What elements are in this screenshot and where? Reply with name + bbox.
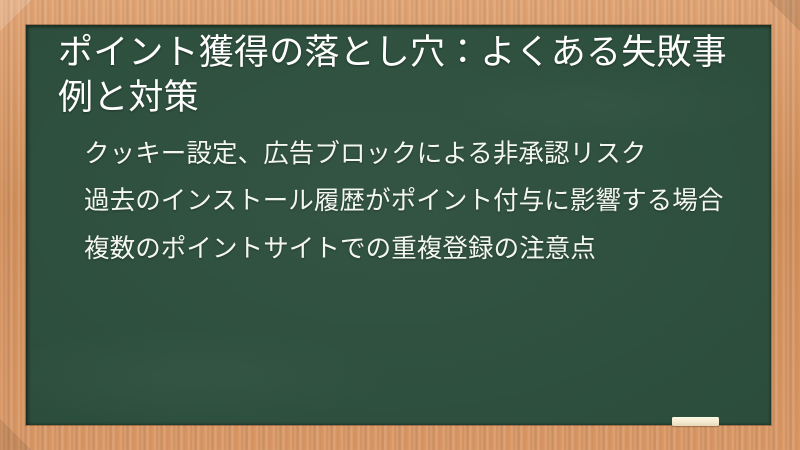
bullet-list: クッキー設定、広告ブロックによる非承認リスク 過去のインストール履歴がポイント付… — [58, 138, 745, 266]
board-content: ポイント獲得の落とし穴：よくある失敗事例と対策 クッキー設定、広告ブロックによる… — [26, 25, 771, 265]
slide-title: ポイント獲得の落とし穴：よくある失敗事例と対策 — [58, 31, 745, 121]
chalk-piece — [672, 417, 719, 426]
bullet-item-1: クッキー設定、広告ブロックによる非承認リスク — [84, 138, 745, 171]
chalkboard-surface: ポイント獲得の落とし穴：よくある失敗事例と対策 クッキー設定、広告ブロックによる… — [26, 25, 771, 425]
bullet-item-3: 複数のポイントサイトでの重複登録の注意点 — [84, 233, 745, 266]
bullet-item-2: 過去のインストール履歴がポイント付与に影響する場合 — [84, 185, 745, 218]
blackboard-slide: ポイント獲得の落とし穴：よくある失敗事例と対策 クッキー設定、広告ブロックによる… — [0, 0, 800, 450]
